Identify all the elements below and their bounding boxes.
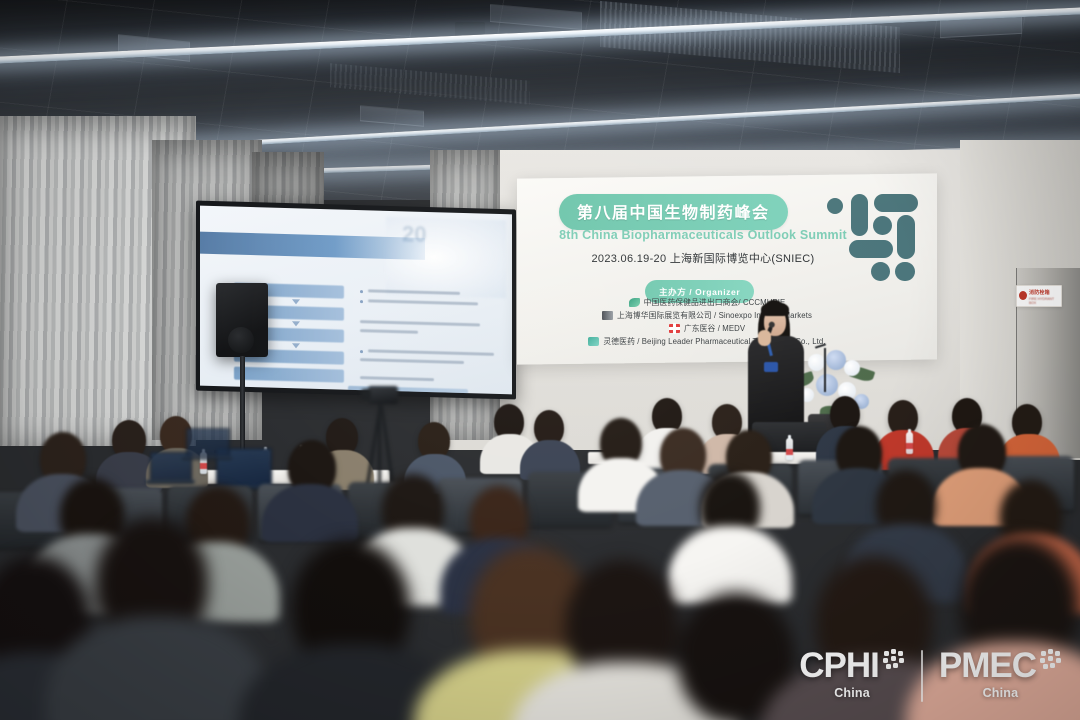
slide-flow-box (234, 367, 344, 383)
water-bottle (906, 432, 913, 454)
organizer-row: 灵德医药 / Beijing Leader Pharmaceutical Tec… (527, 335, 887, 348)
video-camera (368, 386, 398, 404)
organizer-row: 广东医谷 / MEDV (527, 322, 887, 335)
slide-text-line (360, 376, 434, 381)
slide-bullet (360, 290, 363, 293)
slide-flow-arrow (292, 321, 300, 326)
tripod-leg (380, 404, 395, 490)
pa-speaker-stand (240, 356, 245, 452)
banner-title-pill: 第八届中国生物制药峰会 (559, 194, 788, 230)
hydrant-icon (1019, 291, 1027, 300)
cphi-logo-top: CPHI (799, 648, 905, 683)
event-logo-overlay: CPHI China PMEC (799, 648, 1062, 702)
slide-bullet (360, 300, 363, 303)
dot-flower-icon (1040, 649, 1062, 671)
leader-logo-icon (588, 337, 599, 346)
organizer-list: 中国医药保健品进出口商会/ CCCMHPIE 上海博华国际展览有限公司 / Si… (527, 296, 887, 348)
slide-text-line (360, 320, 480, 326)
wall-sign-fire-hydrant: 消防栓箱 FIRE HYDRANT BOX (1016, 285, 1062, 307)
slide-flow-arrow (292, 299, 300, 304)
laptop-base (145, 480, 195, 484)
cphi-wordmark: CPHI (799, 648, 879, 683)
conference-photo: 消防栓箱 FIRE HYDRANT BOX 20 (0, 0, 1080, 720)
pmec-logo-top: PMEC (939, 648, 1062, 683)
wall-sign-title: 消防栓箱 (1029, 289, 1050, 296)
organizer-row: 中国医药保健品进出口商会/ CCCMHPIE (527, 296, 887, 309)
cphi-sublabel: China (834, 686, 870, 700)
sinoexpo-logo-icon (602, 311, 613, 320)
wall-sign-subtitle: FIRE HYDRANT BOX (1029, 297, 1061, 305)
speaker-badge (764, 362, 778, 372)
organizer-name: 广东医谷 / MEDV (684, 323, 745, 334)
slide-flow-arrow (292, 343, 300, 348)
slide-text-line (368, 349, 494, 356)
speaker-hand (758, 330, 771, 346)
slide-text-line (360, 358, 464, 364)
pmec-logo: PMEC China (939, 648, 1062, 700)
banner-title-cn: 第八届中国生物制药峰会 (577, 205, 770, 222)
slide-text-line (368, 299, 478, 305)
speaker-hair-front (761, 302, 789, 316)
logo-divider (921, 650, 923, 702)
laptop-base (181, 456, 233, 460)
cccmhpie-logo-icon (629, 298, 640, 307)
banner-date-venue: 2023.06.19-20 上海新国际博览中心(SNIEC) (553, 250, 853, 266)
slide-text-line (360, 329, 418, 334)
capsule-graphic-icon (827, 192, 919, 288)
dot-flower-icon (883, 649, 905, 671)
cphi-logo: CPHI China (799, 648, 905, 700)
stage-banner: 第八届中国生物制药峰会 8th China Biopharmaceuticals… (517, 173, 937, 364)
podium-microphone-stand (824, 348, 826, 392)
organizer-row: 上海博华国际展览有限公司 / Sinoexpo Informa Markets (527, 309, 887, 322)
pmec-sublabel: China (983, 686, 1019, 700)
laptop (186, 428, 228, 456)
slide-bullet (360, 350, 363, 353)
laptop-lid (186, 428, 230, 458)
pmec-wordmark: PMEC (939, 648, 1036, 683)
laptop-screen (189, 431, 227, 455)
medv-logo-icon (669, 324, 680, 333)
banner-title-en: 8th China Biopharmaceuticals Outlook Sum… (553, 228, 853, 242)
water-bottle (786, 438, 793, 460)
pa-loudspeaker (216, 283, 268, 357)
